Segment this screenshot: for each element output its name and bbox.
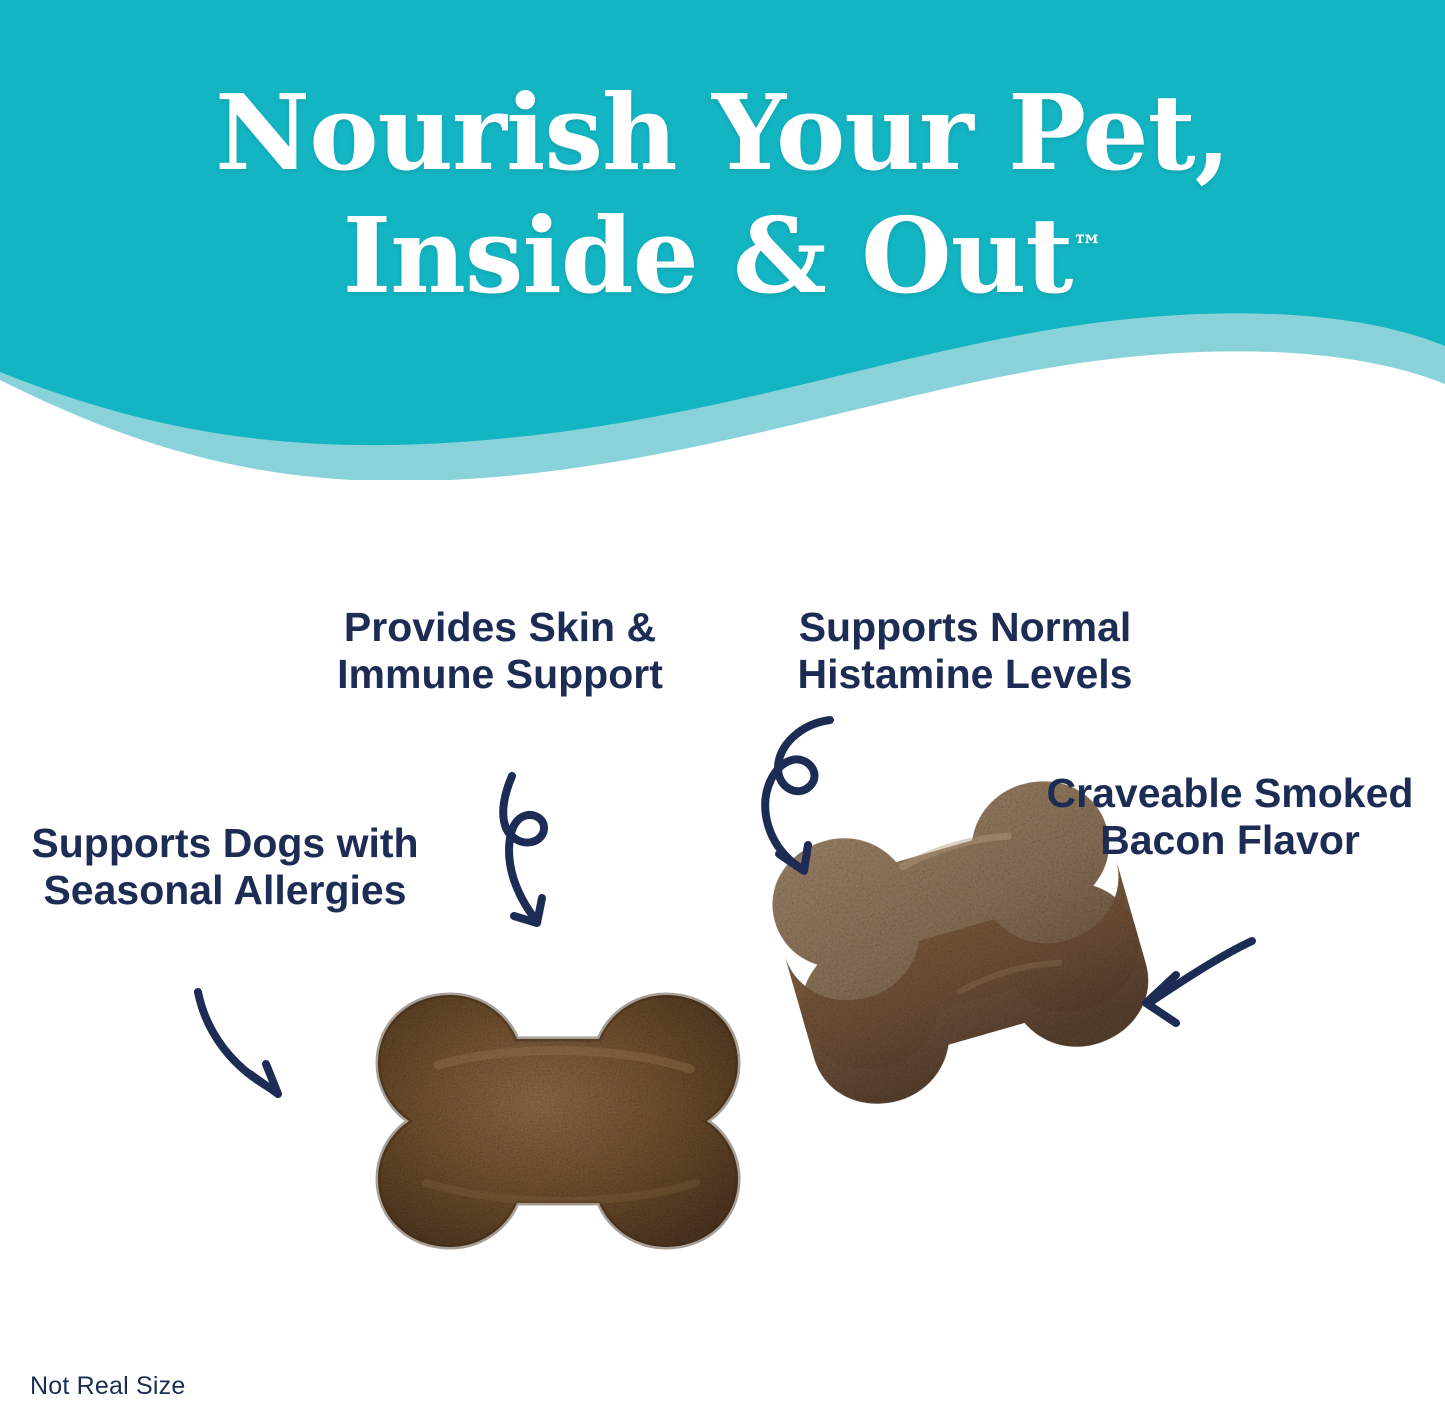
callout-histamine-levels: Supports Normal Histamine Levels xyxy=(735,604,1195,697)
infographic-page: Nourish Your Pet, Inside & Out™ xyxy=(0,0,1445,1415)
trademark-symbol: ™ xyxy=(1072,229,1102,264)
headline-line-2: Inside & Out xyxy=(343,194,1073,317)
callout-bacon-flavor: Craveable Smoked Bacon Flavor xyxy=(1030,770,1430,863)
page-title: Nourish Your Pet, Inside & Out™ xyxy=(0,72,1445,317)
headline-line-1: Nourish Your Pet, xyxy=(215,71,1230,194)
curved-left-arrow-icon xyxy=(1110,925,1265,1050)
callout-seasonal-allergies: Supports Dogs with Seasonal Allergies xyxy=(20,820,430,913)
curly-down-arrow-icon xyxy=(470,770,610,945)
curly-down-right-arrow-icon xyxy=(752,712,902,887)
treat-front xyxy=(378,995,738,1247)
curved-down-right-arrow-icon xyxy=(180,980,330,1115)
size-disclaimer: Not Real Size xyxy=(30,1372,185,1401)
header-banner: Nourish Your Pet, Inside & Out™ xyxy=(0,0,1445,480)
callout-skin-immune: Provides Skin & Immune Support xyxy=(300,604,700,697)
headline-line-2-wrap: Inside & Out™ xyxy=(0,195,1445,318)
